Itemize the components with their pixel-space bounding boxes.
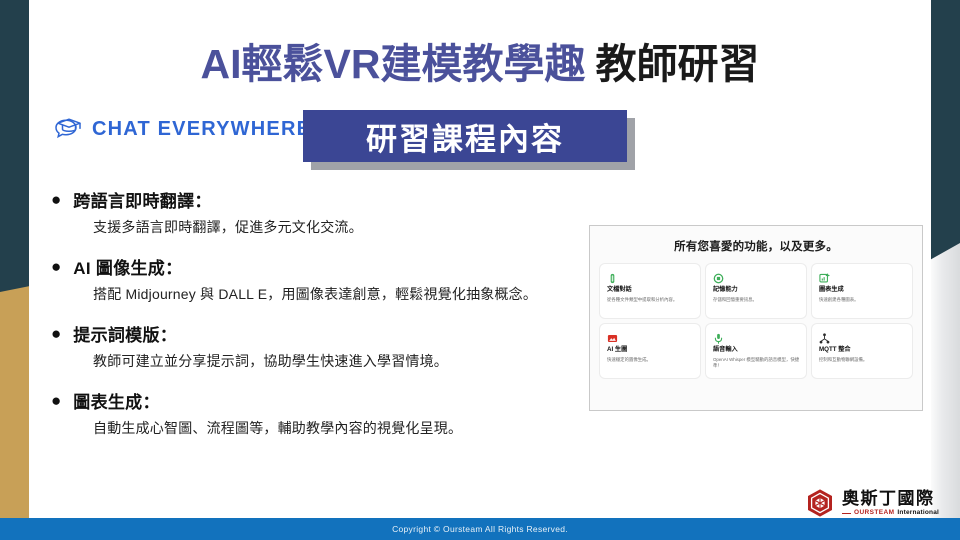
logo-rule-divider xyxy=(842,513,851,514)
bullet-heading: ● 跨語言即時翻譯： xyxy=(47,187,587,212)
bullet-heading: ● 提示詞模版： xyxy=(47,321,587,346)
bullet-dot-icon: ● xyxy=(51,191,61,208)
document-file-icon xyxy=(607,271,618,282)
bullet-dot-icon: ● xyxy=(51,325,61,342)
feature-card-desc: 控制和互動物聯網設備。 xyxy=(819,357,906,363)
footer-copyright: Copyright © Oursteam All Rights Reserved… xyxy=(392,524,568,534)
bullet-description: 自動生成心智圖、流程圖等，輔助教學內容的視覺化呈現。 xyxy=(47,418,587,438)
feature-card[interactable]: AI 生圖 快速穩定的圖像生成。 xyxy=(600,324,700,378)
list-item: ● 提示詞模版： 教師可建立並分享提示詞，協助學生快速進入學習情境。 xyxy=(47,321,587,371)
feature-card-desc: 存儲和回憶重要訊息。 xyxy=(713,297,800,303)
bullet-title: 圖表生成： xyxy=(73,388,160,413)
microphone-icon xyxy=(713,331,724,342)
feature-card-desc: OpenAI Whisper 模型驅動的語音模型，快捷準！ xyxy=(713,357,800,370)
frame-gold-accent xyxy=(0,286,30,522)
feature-card-title: AI 生圖 xyxy=(607,347,694,354)
frame-grey-accent xyxy=(928,243,960,522)
feature-card-title: 記憶能力 xyxy=(713,287,800,294)
bullet-description: 教師可建立並分享提示詞，協助學生快速進入學習情境。 xyxy=(47,351,587,371)
bullet-title: 跨語言即時翻譯： xyxy=(73,187,211,212)
oursteam-name-en: OURSTEAM International xyxy=(842,510,939,517)
footer-bar: Copyright © Oursteam All Rights Reserved… xyxy=(0,518,960,540)
oursteam-name-cn: 奧斯丁國際 xyxy=(842,489,935,508)
page-title-secondary: 教師研習 xyxy=(595,41,759,87)
memory-circle-icon xyxy=(713,271,724,282)
feature-card[interactable]: 圖表生成 快速創建各種圖表。 xyxy=(812,264,912,318)
ai-image-icon xyxy=(607,331,618,342)
oursteam-logo: 奧斯丁國際 OURSTEAM International xyxy=(805,488,939,518)
bullet-list: ● 跨語言即時翻譯： 支援多語言即時翻譯，促進多元文化交流。 ● AI 圖像生成… xyxy=(47,187,587,455)
oursteam-logo-text: 奧斯丁國際 OURSTEAM International xyxy=(842,490,939,517)
slide-root: AI輕鬆VR建模教學趣教師研習 CHAT EVERYWHERE 研習課程內容 xyxy=(0,0,960,540)
feature-card-title: 圖表生成 xyxy=(819,287,906,294)
chart-generate-icon xyxy=(819,271,830,282)
mqtt-node-icon xyxy=(819,331,830,342)
feature-card-grid: 文檔對話 從各種文件類型中提取和分析內容。 記憶能力 存儲和回憶重要訊息。 xyxy=(600,264,912,378)
feature-card-desc: 快速創建各種圖表。 xyxy=(819,297,906,303)
feature-card-title: 文檔對話 xyxy=(607,287,694,294)
oursteam-name-en-accent: OURSTEAM xyxy=(854,510,894,517)
page-title-primary: AI輕鬆VR建模教學趣 xyxy=(201,41,586,87)
oursteam-name-en-rest: International xyxy=(897,510,939,517)
list-item: ● 跨語言即時翻譯： 支援多語言即時翻譯，促進多元文化交流。 xyxy=(47,187,587,237)
graduation-cap-chat-icon xyxy=(52,114,84,144)
bullet-dot-icon: ● xyxy=(51,258,61,275)
list-item: ● 圖表生成： 自動生成心智圖、流程圖等，輔助教學內容的視覺化呈現。 xyxy=(47,388,587,438)
hexagon-emblem-icon xyxy=(805,488,835,518)
feature-card-desc: 快速穩定的圖像生成。 xyxy=(607,357,694,363)
feature-card[interactable]: MQTT 整合 控制和互動物聯網設備。 xyxy=(812,324,912,378)
bullet-heading: ● AI 圖像生成： xyxy=(47,254,587,279)
section-badge-box: 研習課程內容 xyxy=(303,110,627,162)
bullet-description: 搭配 Midjourney 與 DALL E，用圖像表達創意，輕鬆視覺化抽象概念… xyxy=(47,284,587,304)
list-item: ● AI 圖像生成： 搭配 Midjourney 與 DALL E，用圖像表達創… xyxy=(47,254,587,304)
feature-card[interactable]: 記憶能力 存儲和回憶重要訊息。 xyxy=(706,264,806,318)
brand-logo: CHAT EVERYWHERE xyxy=(52,114,311,144)
feature-panel-title: 所有您喜愛的功能，以及更多。 xyxy=(600,238,912,254)
bullet-title: 提示詞模版： xyxy=(73,321,177,346)
feature-card-title: 語音輸入 xyxy=(713,347,800,354)
bullet-dot-icon: ● xyxy=(51,392,61,409)
page-title: AI輕鬆VR建模教學趣教師研習 xyxy=(29,30,931,90)
feature-card-desc: 從各種文件類型中提取和分析內容。 xyxy=(607,297,694,303)
section-badge-label: 研習課程內容 xyxy=(366,114,564,159)
section-badge: 研習課程內容 xyxy=(303,110,635,170)
slide-canvas: AI輕鬆VR建模教學趣教師研習 CHAT EVERYWHERE 研習課程內容 xyxy=(29,14,931,522)
bullet-title: AI 圖像生成： xyxy=(73,254,182,279)
feature-panel: 所有您喜愛的功能，以及更多。 文檔對話 從各種文件類型中提取和分析內容。 xyxy=(589,225,923,411)
feature-card-title: MQTT 整合 xyxy=(819,347,906,354)
bullet-description: 支援多語言即時翻譯，促進多元文化交流。 xyxy=(47,217,587,237)
feature-card[interactable]: 文檔對話 從各種文件類型中提取和分析內容。 xyxy=(600,264,700,318)
bullet-heading: ● 圖表生成： xyxy=(47,388,587,413)
brand-name: CHAT EVERYWHERE xyxy=(92,118,311,141)
feature-card[interactable]: 語音輸入 OpenAI Whisper 模型驅動的語音模型，快捷準！ xyxy=(706,324,806,378)
